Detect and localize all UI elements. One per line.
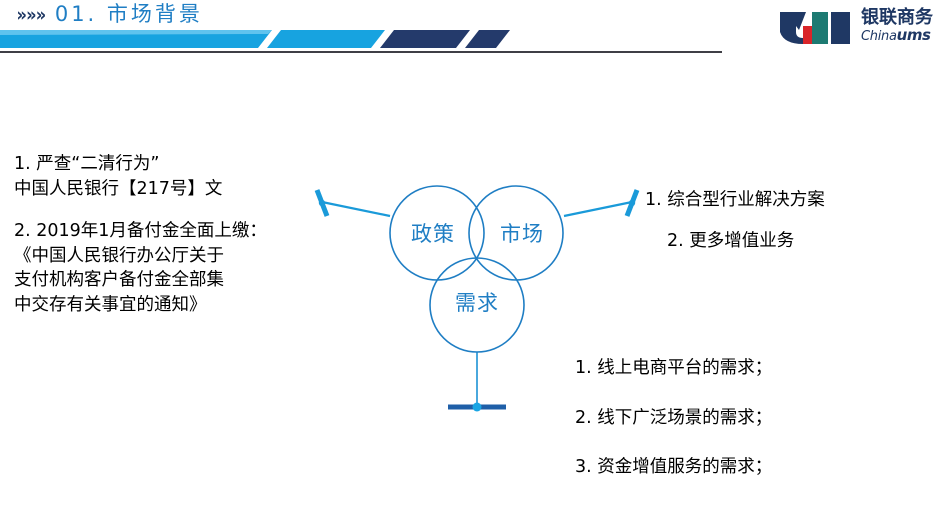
left-item-2: 2. 2019年1月备付金全面上缴： 《中国人民银行办公厅关于 支付机构客户备付… [14,219,344,318]
header-divider [0,51,722,53]
ums-logo-mark-icon [776,6,854,46]
connector-bottom [448,352,506,412]
logo-name-en: Chinaums [861,28,933,43]
list-item: 2. 线下广泛场景的需求； [575,410,915,428]
header-stripe-graphic [0,28,510,50]
venn-label-policy: 政策 [411,222,455,246]
slide-header: »»» 01. 市场背景 银联商务 Chinaums [0,0,945,58]
logo-name-cn: 银联商务 [861,9,933,27]
list-item: 2. 更多增值业务 [645,233,935,251]
page-title: 01. 市场背景 [55,4,203,25]
title-row: »»» 01. 市场背景 [14,4,203,25]
right-bottom-list: 1. 线上电商平台的需求； 2. 线下广泛场景的需求； 3. 资金增值服务的需求… [575,360,915,477]
stripe-cyan-short [267,30,385,48]
list-item: 1. 线上电商平台的需求； [575,360,915,378]
left-item-1: 1. 严查“二清行为” 中国人民银行【217号】文 [14,152,344,202]
brand-logo: 银联商务 Chinaums [776,6,933,46]
stripe-navy-short [465,30,510,48]
logo-name-en-ums: ums [897,26,931,44]
list-item: 1. 综合型行业解决方案 [645,192,935,210]
connector-right [564,190,637,216]
chevrons-icon: »»» [17,6,46,25]
connector-left [317,190,390,216]
left-text-block: 1. 严查“二清行为” 中国人民银行【217号】文 2. 2019年1月备付金全… [14,152,344,318]
stripe-navy-long [380,30,470,48]
logo-name-en-china: China [861,29,897,44]
venn-label-demand: 需求 [455,291,499,315]
list-item: 3. 资金增值服务的需求； [575,459,915,477]
logo-wordmark: 银联商务 Chinaums [861,9,933,43]
venn-label-market: 市场 [500,222,544,246]
right-top-list: 1. 综合型行业解决方案 2. 更多增值业务 [645,192,935,250]
